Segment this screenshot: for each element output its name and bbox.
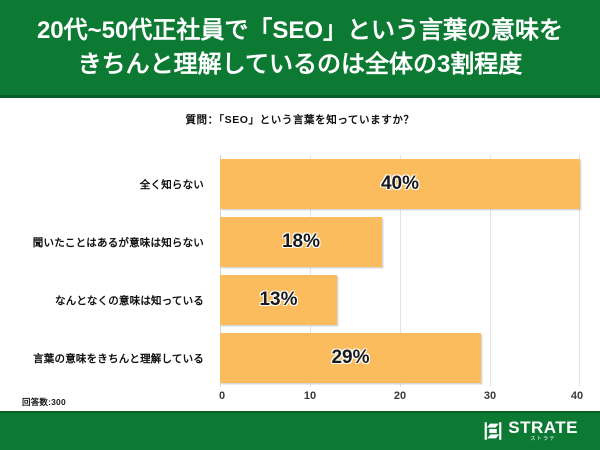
category-label: 聞いたことはあるが意味は知らない (0, 213, 212, 271)
bar-value-label: 29% (331, 347, 369, 369)
bar-zenku-shiranai[interactable]: 40% (220, 159, 580, 209)
bar-chart: 全く知らない 聞いたことはあるが意味は知らない なんとなくの意味は知っている 言… (0, 150, 600, 405)
x-axis: 0 10 20 30 40 (220, 390, 580, 410)
x-tick-label: 10 (304, 390, 316, 402)
bar-kichinto-rikai[interactable]: 29% (220, 333, 481, 383)
x-tick-label: 0 (219, 390, 225, 402)
bar-rows: 40% 18% 13% 29% (220, 155, 580, 387)
category-label: 言葉の意味をきちんと理解している (0, 329, 212, 387)
category-label: 全く知らない (0, 155, 212, 213)
strate-logo[interactable]: STRATE ストラテ (483, 419, 578, 442)
bar-row: 29% (220, 329, 580, 387)
bar-value-label: 18% (282, 231, 320, 253)
bar-row: 13% (220, 271, 580, 329)
slide-root: 20代~50代正社員で「SEO」という言葉の意味を きちんと理解しているのは全体… (0, 0, 600, 450)
logo-subtext: ストラテ (530, 437, 556, 442)
x-tick-label: 30 (484, 390, 496, 402)
category-label: なんとなくの意味は知っている (0, 271, 212, 329)
bar-value-label: 40% (381, 173, 419, 195)
header-title-line-2: きちんと理解しているのは全体の3割程度 (78, 48, 523, 82)
logo-wordmark: STRATE (508, 419, 578, 436)
chart-question-title: 質問：「SEO」という言葉を知っていますか？ (0, 112, 600, 127)
sample-size-note: 回答数:300 (22, 396, 66, 408)
x-tick-label: 20 (394, 390, 406, 402)
plot-area: 40% 18% 13% 29% (220, 155, 580, 387)
logo-text-wrap: STRATE ストラテ (508, 419, 578, 442)
strate-s-logo-icon (483, 421, 503, 441)
category-axis-labels: 全く知らない 聞いたことはあるが意味は知らない なんとなくの意味は知っている 言… (0, 155, 212, 387)
bar-nantonaku-imi[interactable]: 13% (220, 275, 337, 325)
x-tick-label: 40 (571, 390, 583, 402)
header-banner: 20代~50代正社員で「SEO」という言葉の意味を きちんと理解しているのは全体… (0, 0, 600, 95)
bar-value-label: 13% (259, 289, 297, 311)
bar-row: 18% (220, 213, 580, 271)
bar-kiita-koto-aru[interactable]: 18% (220, 217, 382, 267)
header-underline-divider (0, 95, 600, 98)
header-title-line-1: 20代~50代正社員で「SEO」という言葉の意味を (37, 14, 563, 48)
bar-row: 40% (220, 155, 580, 213)
